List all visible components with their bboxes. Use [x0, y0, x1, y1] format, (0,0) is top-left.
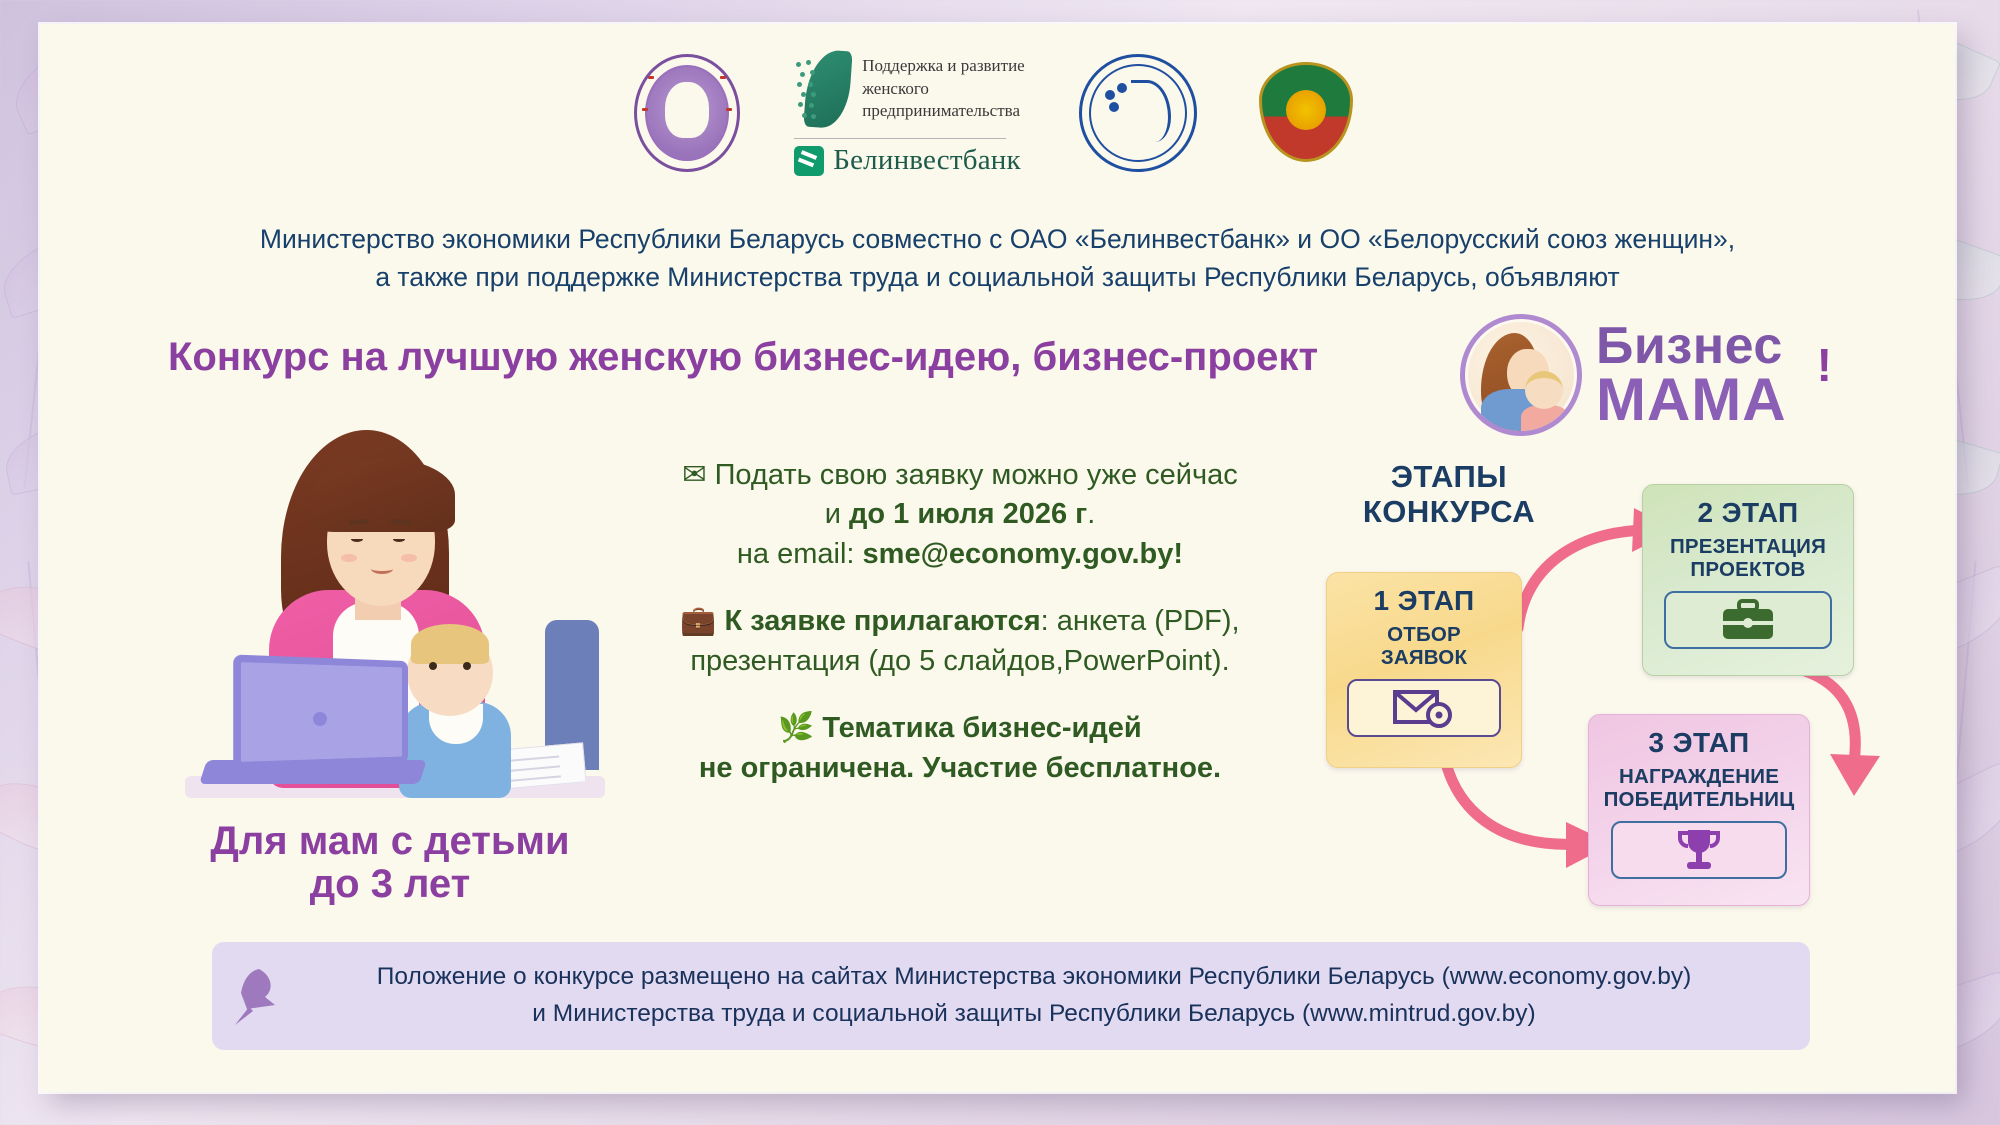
brand-word-mama: МАМА	[1596, 371, 1787, 428]
mom-caption: Для мам с детьми до 3 лет	[190, 820, 590, 906]
tagline-line-3: предпринимательства	[862, 100, 1024, 123]
business-mama-logo: Бизнес МАМА !	[1460, 314, 1832, 436]
info-apply-block: ✉Подать свою заявку можно уже сейчас и д…	[600, 456, 1320, 574]
logo-row: Поддержка и развитие женского предприним…	[40, 48, 1955, 177]
info-email-address[interactable]: sme@economy.gov.by!	[863, 538, 1184, 570]
stage-2-desc-line-1: ПРЕЗЕНТАЦИЯ	[1653, 536, 1843, 559]
ministry-of-labour-logo	[1251, 54, 1361, 172]
info-deadline: до 1 июля 2026 г	[849, 498, 1087, 530]
stage-3-desc-line-2: ПОБЕДИТЕЛЬНИЦ	[1599, 789, 1799, 812]
belinvestbank-tagline: Поддержка и развитие женского предприним…	[862, 55, 1024, 124]
ministry-of-labour-emblem-icon	[1251, 54, 1361, 172]
footer-line-2: и Министерства труда и социальной защиты…	[298, 996, 1770, 1033]
stage-1-desc-line-1: ОТБОР	[1337, 624, 1511, 647]
mom-caption-line-1: Для мам с детьми	[190, 820, 590, 863]
info-docs-line1: 💼К заявке прилагаются: анкета (PDF),	[600, 602, 1320, 641]
stage-2-desc-line-2: ПРОЕКТОВ	[1653, 559, 1843, 582]
mother-and-baby-icon	[1460, 314, 1582, 436]
info-docs-rest: : анкета (PDF),	[1041, 605, 1240, 637]
stages-diagram: ЭТАПЫ КОНКУРСА 1 ЭТАП ОТБОР ЗАЯВОК	[1320, 454, 1900, 924]
footer-text: Положение о конкурсе размещено на сайтах…	[298, 959, 1810, 1033]
belarusian-union-of-women-logo	[1079, 54, 1197, 172]
briefcase-icon: 💼	[680, 605, 716, 637]
info-docs-line2: презентация (до 5 слайдов,PowerPoint).	[600, 642, 1320, 681]
ministry-of-economy-emblem-icon	[634, 54, 740, 172]
stage-1-icon-box	[1347, 679, 1500, 737]
stage-3-desc: НАГРАЖДЕНИЕ ПОБЕДИТЕЛЬНИЦ	[1599, 766, 1799, 811]
intro-line-2: а также при поддержке Министерства труда…	[40, 258, 1955, 296]
mom-caption-line-2: до 3 лет	[190, 863, 590, 906]
ministry-of-economy-logo	[634, 54, 740, 172]
info-email-label: на email:	[737, 538, 863, 570]
stage-card-2[interactable]: 2 ЭТАП ПРЕЗЕНТАЦИЯ ПРОЕКТОВ	[1642, 484, 1854, 676]
info-line-1: ✉Подать свою заявку можно уже сейчас	[600, 456, 1320, 495]
info-line-3: на email: sme@economy.gov.by!	[600, 535, 1320, 574]
stage-1-desc: ОТБОР ЗАЯВОК	[1337, 624, 1511, 669]
footer-line-1: Положение о конкурсе размещено на сайтах…	[298, 959, 1770, 996]
envelope-icon: ✉	[682, 459, 706, 491]
pushpin-icon-wrap	[212, 965, 298, 1027]
stage-1-desc-line-2: ЗАЯВОК	[1337, 647, 1511, 670]
briefcase-icon	[1721, 599, 1775, 641]
belarusian-union-of-women-emblem-icon	[1079, 54, 1197, 172]
footer-banner: Положение о конкурсе размещено на сайтах…	[212, 942, 1810, 1050]
green-leaf-icon	[794, 48, 852, 130]
info-topic-text2: не ограничена. Участие бесплатное.	[600, 749, 1320, 788]
pushpin-icon	[229, 965, 281, 1027]
stage-3-desc-line-1: НАГРАЖДЕНИЕ	[1599, 766, 1799, 789]
info-docs-label: К заявке прилагаются	[725, 605, 1041, 637]
stage-card-3[interactable]: 3 ЭТАП НАГРАЖДЕНИЕ ПОБЕДИТЕЛЬНИЦ	[1588, 714, 1810, 906]
stage-3-icon-box	[1611, 821, 1787, 879]
divider	[794, 138, 1006, 139]
stage-2-desc: ПРЕЗЕНТАЦИЯ ПРОЕКТОВ	[1653, 536, 1843, 581]
tagline-line-1: Поддержка и развитие	[862, 55, 1024, 78]
info-topic-line1: 🌿Тематика бизнес-идей	[600, 709, 1320, 748]
info-block: ✉Подать свою заявку можно уже сейчас и д…	[600, 456, 1320, 788]
intro-line-1: Министерство экономики Республики Белару…	[40, 220, 1955, 258]
info-line-2: и до 1 июля 2026 г.	[600, 495, 1320, 534]
intro-text: Министерство экономики Республики Белару…	[40, 220, 1955, 296]
info-documents-block: 💼К заявке прилагаются: анкета (PDF), пре…	[600, 602, 1320, 681]
stage-card-1[interactable]: 1 ЭТАП ОТБОР ЗАЯВОК	[1326, 572, 1522, 768]
stage-1-number: 1 ЭТАП	[1337, 585, 1511, 617]
working-mother-illustration	[185, 424, 605, 824]
stage-2-icon-box	[1664, 591, 1831, 649]
stage-3-number: 3 ЭТАП	[1599, 727, 1799, 759]
brand-exclamation: !	[1817, 314, 1832, 392]
tagline-line-2: женского	[862, 78, 1024, 101]
info-topic-text1: Тематика бизнес-идей	[822, 712, 1141, 744]
belinvestbank-mark-icon	[794, 146, 824, 176]
page-title: Конкурс на лучшую женскую бизнес-идею, б…	[168, 334, 1428, 380]
stages-title-line-1: ЭТАПЫ	[1334, 460, 1564, 495]
poster-sheet: Поддержка и развитие женского предприним…	[40, 24, 1955, 1092]
stage-2-number: 2 ЭТАП	[1653, 497, 1843, 529]
trophy-icon	[1676, 828, 1722, 872]
info-apply-line1: Подать свою заявку можно уже сейчас	[715, 459, 1238, 491]
info-apply-line2-prefix: и	[825, 498, 849, 530]
belinvestbank-name: Белинвестбанк	[833, 144, 1021, 177]
belinvestbank-logo: Поддержка и развитие женского предприним…	[794, 48, 1024, 177]
info-apply-line2-suffix: .	[1087, 498, 1095, 530]
brand-word-biznes: Бизнес	[1596, 322, 1787, 371]
envelope-at-icon	[1393, 688, 1455, 728]
leaf-icon: 🌿	[778, 712, 814, 744]
info-topic-block: 🌿Тематика бизнес-идей не ограничена. Уча…	[600, 709, 1320, 788]
